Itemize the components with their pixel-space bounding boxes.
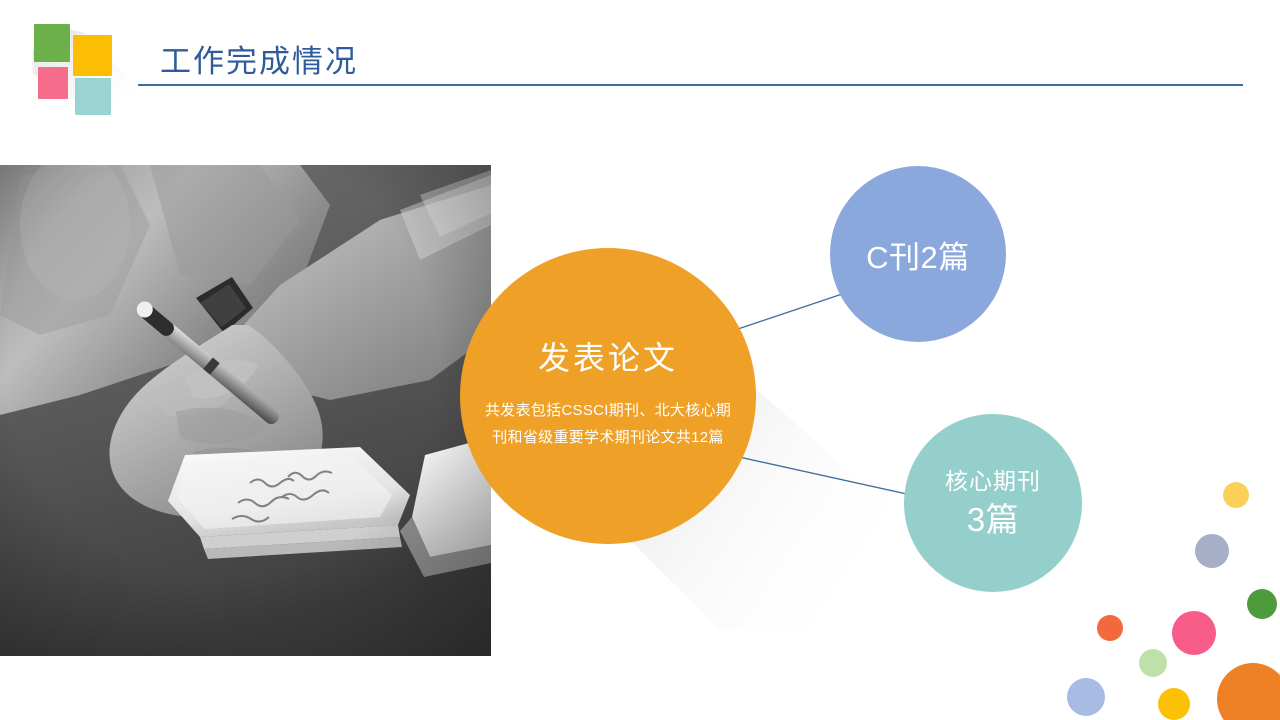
branch-core-journal-label: 核心期刊 [945, 468, 1041, 496]
yellow-dot-small [1223, 482, 1249, 508]
orange-dot-small [1097, 615, 1123, 641]
logo-square-teal [75, 78, 111, 115]
branch-c-journal-label: C刊2篇 [866, 232, 970, 277]
branch-bubble-c-journal[interactable]: C刊2篇 [830, 166, 1006, 342]
main-bubble-body: 共发表包括CSSCI期刊、北大核心期刊和省级重要学术期刊论文共12篇 [483, 398, 733, 451]
page-title: 工作完成情况 [160, 36, 358, 81]
branch-bubble-core-journal[interactable]: 核心期刊 3篇 [904, 414, 1082, 592]
writing-hand-illustration [0, 165, 491, 656]
orange-dot-large [1217, 663, 1280, 720]
logo-square-green [34, 24, 70, 62]
gold-dot [1158, 688, 1190, 720]
pink-dot [1172, 611, 1216, 655]
writing-hand-photo [0, 165, 491, 656]
main-bubble-published-papers[interactable]: 发表论文 共发表包括CSSCI期刊、北大核心期刊和省级重要学术期刊论文共12篇 [460, 248, 756, 544]
connector-to-core-journal [730, 455, 925, 498]
periwinkle-dot [1067, 678, 1105, 716]
slide-canvas: 工作完成情况 [0, 0, 1280, 720]
four-squares-logo [30, 18, 140, 103]
green-dot [1247, 589, 1277, 619]
main-bubble-title: 发表论文 [538, 341, 678, 376]
gray-blue-dot [1195, 534, 1229, 568]
light-green-dot [1139, 649, 1167, 677]
header-divider [138, 84, 1243, 86]
logo-square-pink [38, 67, 68, 99]
logo-square-yellow [73, 35, 112, 76]
branch-core-journal-count: 3篇 [967, 502, 1019, 538]
